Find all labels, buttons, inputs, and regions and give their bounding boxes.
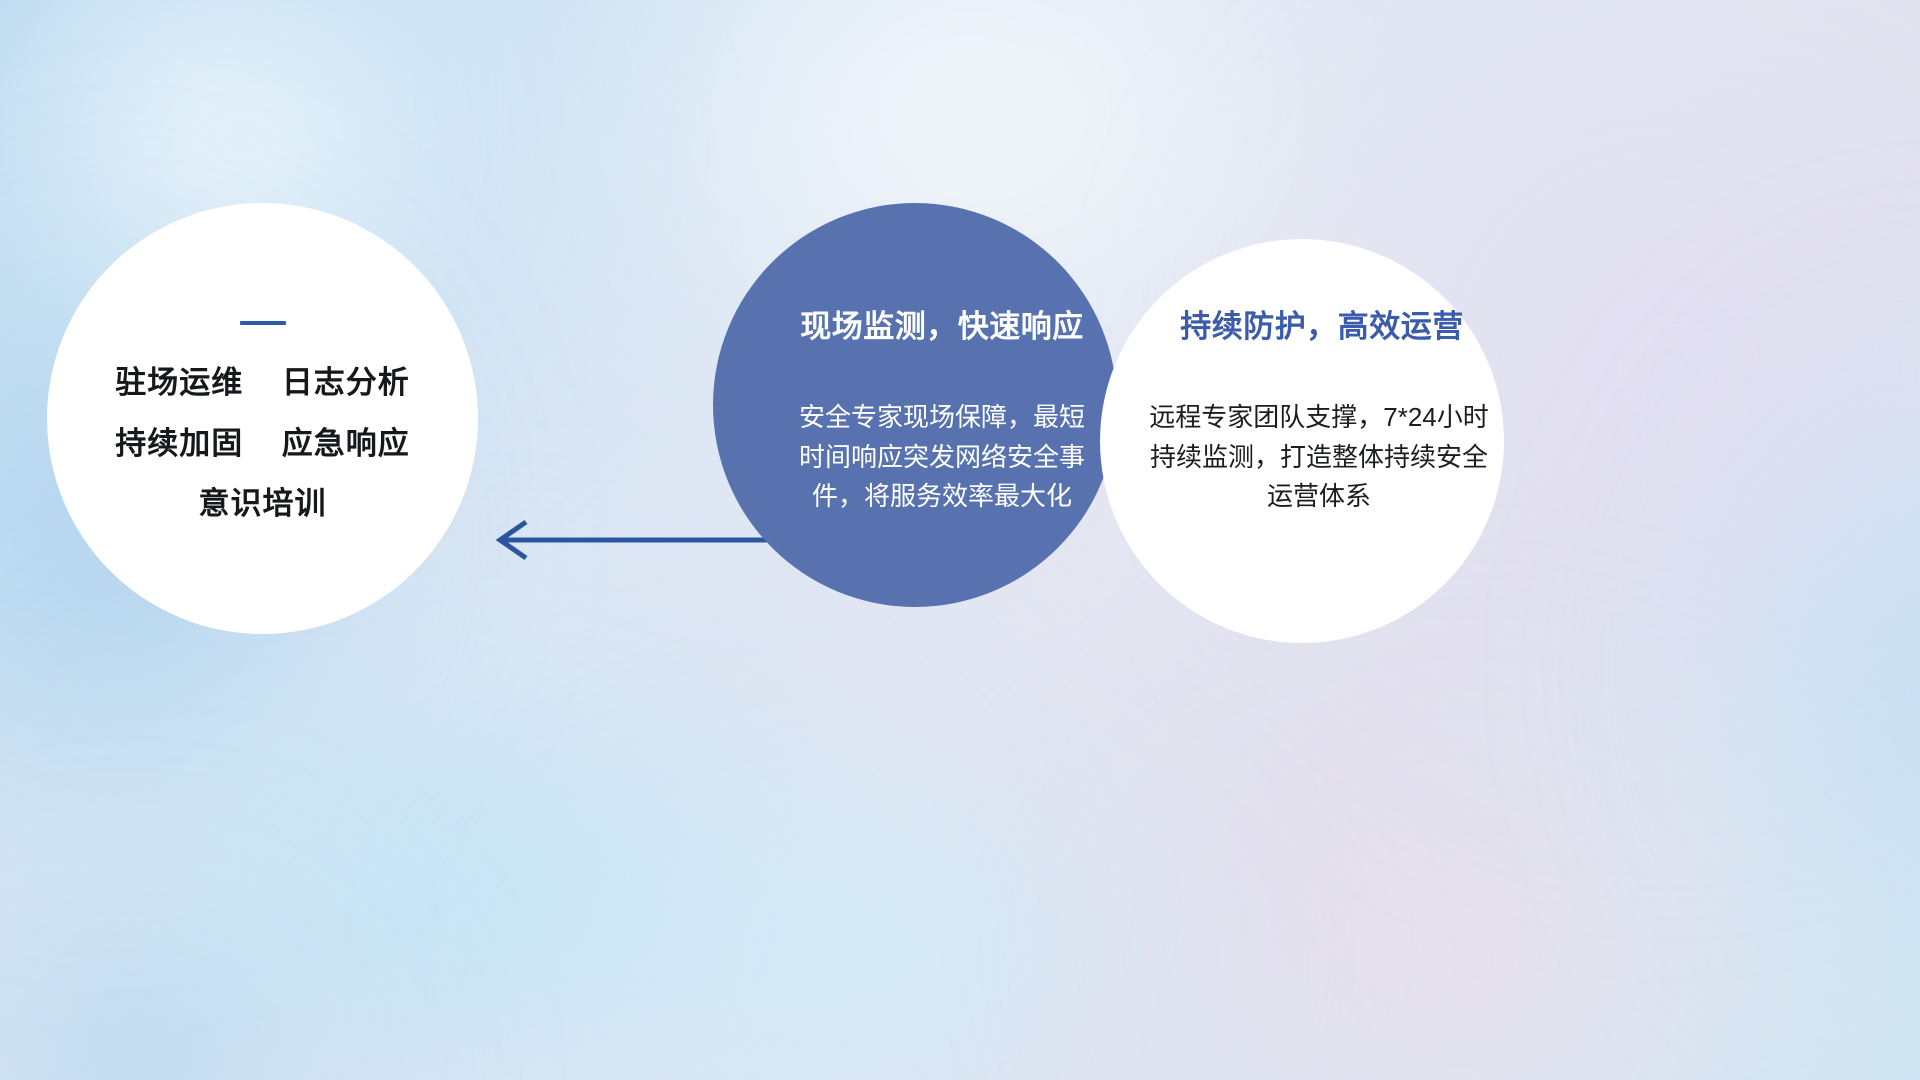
right-circle-content: 持续防护，高效运营 远程专家团队支撑，7*24小时持续监测，打造整体持续安全运营… xyxy=(1100,239,1504,643)
slide-canvas: 驻场运维 日志分析 持续加固 应急响应 意识培训 现场监测，快速响应 安全专家现… xyxy=(0,0,1920,1080)
capability-line-1: 驻场运维 日志分析 xyxy=(115,367,409,400)
right-remote-circle[interactable]: 持续防护，高效运营 远程专家团队支撑，7*24小时持续监测，打造整体持续安全运营… xyxy=(1100,239,1504,643)
middle-onsite-circle[interactable]: 现场监测，快速响应 安全专家现场保障，最短时间响应突发网络安全事件，将服务效率最… xyxy=(713,203,1117,607)
left-capability-circle[interactable]: 驻场运维 日志分析 持续加固 应急响应 意识培训 xyxy=(47,203,478,634)
capability-line-2: 持续加固 应急响应 xyxy=(115,428,409,461)
right-circle-body: 远程专家团队支撑，7*24小时持续监测，打造整体持续安全运营体系 xyxy=(1144,398,1494,517)
middle-circle-body: 安全专家现场保障，最短时间响应突发网络安全事件，将服务效率最大化 xyxy=(792,398,1092,517)
left-circle-content: 驻场运维 日志分析 持续加固 应急响应 意识培训 xyxy=(47,203,478,634)
middle-circle-content: 现场监测，快速响应 安全专家现场保障，最短时间响应突发网络安全事件，将服务效率最… xyxy=(713,203,1117,607)
right-circle-title: 持续防护，高效运营 xyxy=(1180,301,1464,346)
middle-circle-title: 现场监测，快速响应 xyxy=(800,301,1084,346)
capability-line-3: 意识培训 xyxy=(199,488,327,521)
divider-dash xyxy=(240,321,286,325)
